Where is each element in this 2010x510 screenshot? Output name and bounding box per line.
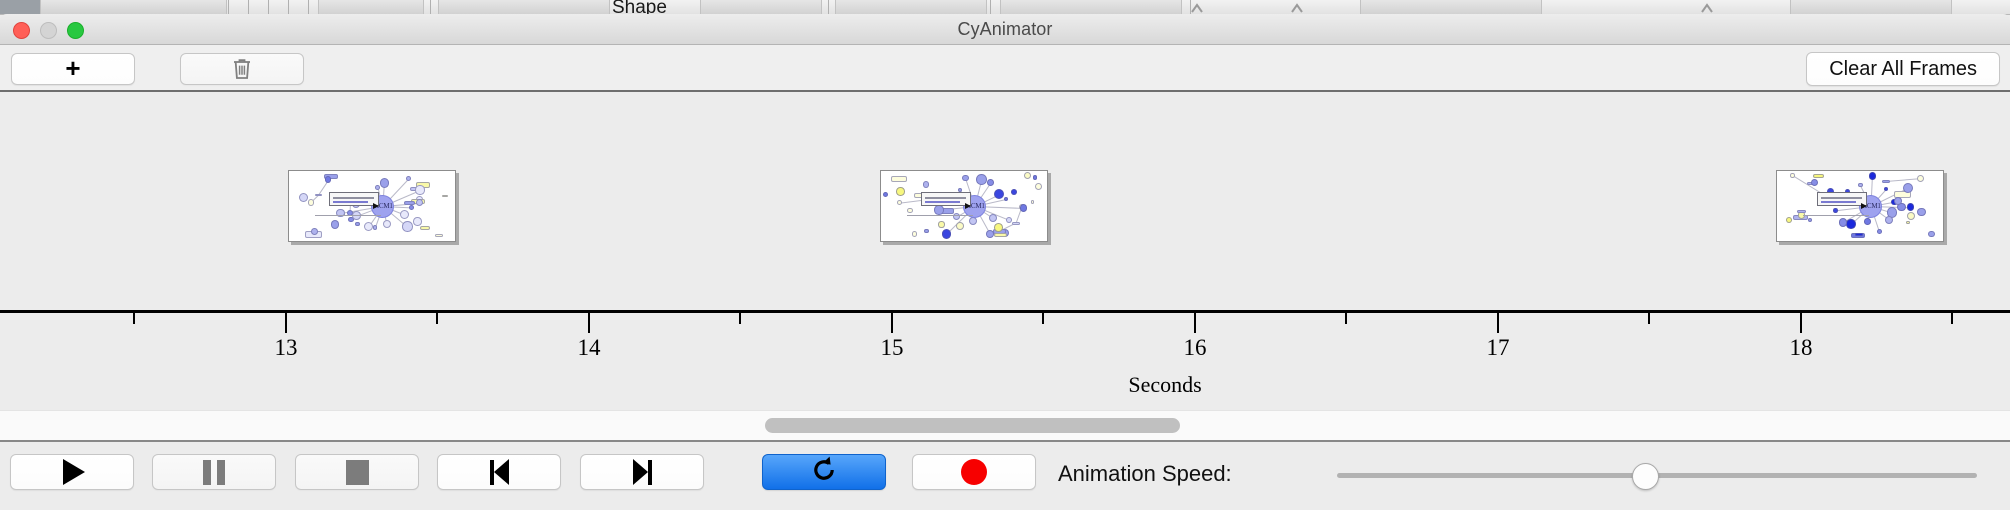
network-node <box>1797 210 1806 213</box>
window-title: CyAnimator <box>0 19 2010 40</box>
network-caption-line <box>315 215 381 217</box>
network-thumbnail-canvas: MCM1 <box>881 171 1047 241</box>
network-node <box>1846 219 1856 229</box>
network-edge <box>1886 178 1921 182</box>
network-node <box>923 181 929 187</box>
timeline-tick-minor <box>436 313 438 324</box>
chevron-icon <box>1190 1 1204 13</box>
network-node <box>883 192 888 197</box>
network-node <box>415 185 424 194</box>
network-node <box>364 222 373 231</box>
timeline-tick-minor <box>1042 313 1044 324</box>
network-node <box>897 200 902 205</box>
network-node <box>315 194 323 197</box>
background-window-strip: Shape <box>0 0 2010 15</box>
timeline-tick-label: 13 <box>275 335 298 361</box>
chevron-icon <box>1700 1 1714 13</box>
timeline-tick-label: 18 <box>1790 335 1813 361</box>
network-node <box>435 234 443 237</box>
timeline-tick-major <box>891 313 893 333</box>
play-icon <box>63 459 85 485</box>
timeline-tick-minor <box>739 313 741 324</box>
network-node <box>409 205 414 210</box>
timeline-tick-major <box>1497 313 1499 333</box>
network-node <box>956 222 964 230</box>
network-node <box>1790 173 1794 177</box>
cyanimator-window: Shape CyAnimator + <box>0 0 2010 510</box>
network-node <box>406 176 411 181</box>
network-node <box>1858 183 1863 188</box>
network-node <box>380 178 389 187</box>
timeline-tick-minor <box>1345 313 1347 324</box>
network-node <box>1004 197 1008 201</box>
network-node <box>373 225 377 229</box>
play-button[interactable] <box>10 454 134 490</box>
network-node <box>355 222 359 226</box>
record-button[interactable] <box>912 454 1036 490</box>
player-control-bar: Animation Speed: <box>0 444 2010 510</box>
timeline-tick-major <box>1800 313 1802 333</box>
title-bar[interactable]: CyAnimator <box>0 14 2010 45</box>
network-node <box>1031 200 1035 204</box>
record-circle-icon <box>961 459 987 485</box>
network-node <box>1808 218 1812 222</box>
animation-speed-slider[interactable] <box>1337 473 1977 478</box>
network-node <box>1882 180 1890 183</box>
skip-previous-icon <box>490 459 509 485</box>
network-node <box>1012 222 1020 225</box>
timeline-tick-label: 16 <box>1184 335 1207 361</box>
background-window-label: Shape <box>612 0 667 15</box>
network-node <box>891 176 907 182</box>
timeline-scroll-area <box>0 410 2010 442</box>
network-node <box>1813 174 1824 178</box>
skip-start-button[interactable] <box>437 454 561 490</box>
network-node <box>1884 187 1888 191</box>
chevron-icon <box>1290 1 1304 13</box>
network-node <box>1903 183 1913 193</box>
timeline-tick-label: 15 <box>881 335 904 361</box>
network-node <box>942 229 952 239</box>
network-node <box>1928 231 1935 238</box>
network-node <box>938 221 944 227</box>
network-node <box>1833 208 1837 212</box>
network-node <box>1885 216 1893 224</box>
network-node <box>400 210 410 220</box>
network-node <box>442 195 448 197</box>
keyframe-thumbnail[interactable]: MCM1 <box>288 170 456 242</box>
timeline-tick-label: 17 <box>1487 335 1510 361</box>
network-node <box>986 230 994 238</box>
stop-icon <box>346 460 369 485</box>
network-node <box>1011 189 1017 195</box>
network-node <box>416 199 423 206</box>
network-node <box>325 176 331 182</box>
network-node <box>1907 212 1915 220</box>
network-node <box>1877 229 1882 234</box>
network-node <box>1869 172 1876 179</box>
network-thumbnail-canvas: MCM1 <box>1777 171 1943 241</box>
network-caption-line <box>907 215 973 217</box>
network-node <box>1024 172 1032 180</box>
network-node <box>962 175 968 181</box>
network-node <box>1864 218 1871 225</box>
stop-button[interactable] <box>295 454 419 490</box>
timeline-tick-label: 14 <box>578 335 601 361</box>
network-annotation-arrow <box>1861 203 1867 209</box>
add-frame-button[interactable]: + <box>11 53 135 85</box>
network-node <box>1020 204 1027 211</box>
network-node <box>1855 233 1864 236</box>
keyframe-thumbnail[interactable]: MCM1 <box>1776 170 1944 242</box>
timeline-tick-minor <box>1648 313 1650 324</box>
network-node <box>311 228 318 235</box>
network-node <box>1906 221 1910 225</box>
network-node <box>420 226 431 230</box>
timeline-horizontal-scrollbar[interactable] <box>765 418 1180 433</box>
network-node <box>1894 197 1902 205</box>
network-node <box>331 220 339 228</box>
network-annotation-tooltip <box>1817 192 1867 206</box>
plus-icon: + <box>65 55 80 81</box>
network-node <box>308 199 314 205</box>
animation-speed-slider-thumb[interactable] <box>1632 463 1659 490</box>
network-node <box>907 208 912 213</box>
network-node <box>1035 183 1042 190</box>
frames-toolbar: + Clear All Frames <box>0 45 2010 91</box>
network-node <box>896 187 904 195</box>
network-node <box>1786 217 1792 223</box>
network-node <box>976 174 987 185</box>
network-annotation-tooltip <box>329 192 379 206</box>
skip-end-button[interactable] <box>580 454 704 490</box>
network-node <box>969 217 977 225</box>
network-annotation-tooltip <box>921 192 971 206</box>
pause-icon <box>203 460 225 485</box>
timeline-tick-minor <box>1951 313 1953 324</box>
network-caption-line <box>1803 215 1869 217</box>
timeline-panel[interactable]: 12131415161718 MCM1MCM1MCM1 Seconds <box>0 90 2010 410</box>
timeline-axis-line <box>0 310 2010 313</box>
loop-button[interactable] <box>762 454 886 490</box>
network-annotation-arrow <box>965 203 971 209</box>
timeline-tick-major <box>588 313 590 333</box>
network-thumbnail-canvas: MCM1 <box>289 171 455 241</box>
network-node <box>1907 203 1915 211</box>
network-node <box>934 205 943 214</box>
delete-frame-button[interactable] <box>180 53 304 85</box>
network-node <box>994 189 1004 199</box>
network-node <box>994 233 1006 238</box>
clear-all-frames-button[interactable]: Clear All Frames <box>1806 52 2000 86</box>
network-node <box>994 223 1003 232</box>
timeline-tick-major <box>1194 313 1196 333</box>
network-node <box>987 179 994 186</box>
timeline-tick-minor <box>133 313 135 324</box>
pause-button[interactable] <box>152 454 276 490</box>
keyframe-thumbnail[interactable]: MCM1 <box>880 170 1048 242</box>
network-node <box>1917 208 1926 217</box>
network-node <box>989 214 998 223</box>
network-node <box>912 231 918 237</box>
network-annotation-arrow <box>373 203 379 209</box>
network-node <box>1917 175 1924 182</box>
network-node <box>1033 175 1037 179</box>
loop-refresh-icon <box>809 455 839 490</box>
animation-speed-label: Animation Speed: <box>1058 461 1232 487</box>
timeline-tick-major <box>285 313 287 333</box>
network-node <box>402 221 413 232</box>
network-node <box>1839 218 1847 226</box>
skip-next-icon <box>633 459 652 485</box>
network-node <box>383 220 391 228</box>
network-node <box>299 193 308 202</box>
timeline-axis-title: Seconds <box>1128 372 1201 398</box>
network-node <box>924 229 928 233</box>
network-node <box>375 185 380 190</box>
network-node <box>1811 179 1818 186</box>
network-node <box>413 217 421 225</box>
trash-icon <box>231 57 253 81</box>
